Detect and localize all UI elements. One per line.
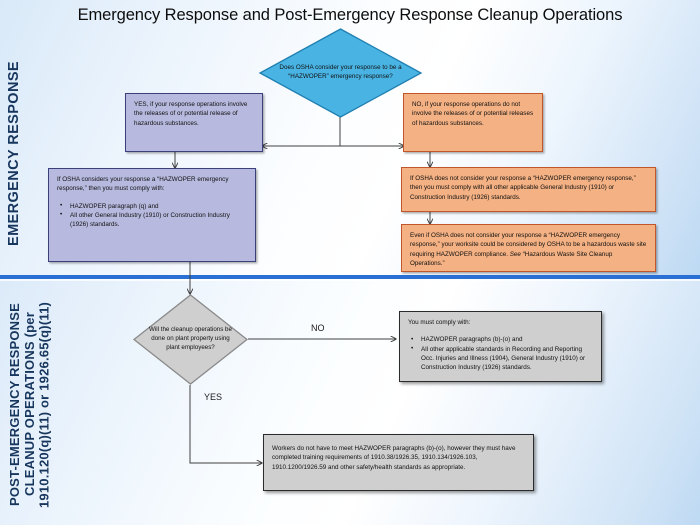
node-cleanup-yes-outcome[interactable]: Workers do not have to meet HAZWOPER par… [263,434,534,491]
node-no-requirements-text: If OSHA does not consider your response … [402,168,655,207]
edge-label-no: NO [311,323,325,333]
node-no-branch[interactable]: NO, if your response operations do not i… [403,93,543,152]
node-yes-requirements[interactable]: If OSHA considers your response a “HAZWO… [48,168,256,262]
list-item: HAZWOPER paragraph (q) and [57,202,248,211]
list-item: All other General Industry (1910) or Con… [57,211,248,230]
list-item: HAZWOPER paragraphs (b)-(o) and [408,335,594,344]
node-cleanup-no-outcome-lead: You must comply with: [408,318,594,327]
decision-hazwoper-label: Does OSHA consider your response to be a… [258,27,423,119]
node-yes-requirements-lead: If OSHA considers your response a “HAZWO… [57,175,248,194]
decision-hazwoper-emergency-response[interactable]: Does OSHA consider your response to be a… [258,27,423,119]
section-label-post-emergency-cleanup: POST-EMERGENCY RESPONSE CLEANUP OPERATIO… [8,292,74,517]
node-no-caveat-text: Even if OSHA does not consider your resp… [402,225,655,273]
node-yes-branch[interactable]: YES, if your response operations involve… [125,93,263,152]
node-cleanup-no-outcome[interactable]: You must comply with: HAZWOPER paragraph… [399,311,602,382]
node-no-requirements[interactable]: If OSHA does not consider your response … [401,167,656,212]
page-title: Emergency Response and Post-Emergency Re… [0,6,700,25]
node-no-caveat[interactable]: Even if OSHA does not consider your resp… [401,224,656,272]
section-label-emergency-response: EMERGENCY RESPONSE [6,38,26,268]
node-yes-requirements-bullets: HAZWOPER paragraph (q) and All other Gen… [57,202,248,230]
list-item: All other applicable standards in Record… [408,345,594,373]
node-cleanup-yes-outcome-text: Workers do not have to meet HAZWOPER par… [264,435,533,477]
spacer [57,194,248,198]
edge-label-yes: YES [204,392,222,402]
node-cleanup-no-outcome-bullets: HAZWOPER paragraphs (b)-(o) and All othe… [408,335,594,372]
node-no-branch-text: NO, if your response operations do not i… [404,94,542,133]
decision-cleanup-on-plant-property[interactable]: Will the cleanup operations be done on p… [132,293,249,386]
spacer [408,327,594,331]
node-no-caveat-see: See [510,251,521,258]
slide-canvas: Emergency Response and Post-Emergency Re… [0,0,700,525]
node-yes-branch-text: YES, if your response operations involve… [126,94,262,133]
section-divider-highlight [0,279,700,281]
decision-cleanup-label: Will the cleanup operations be done on p… [132,293,249,386]
